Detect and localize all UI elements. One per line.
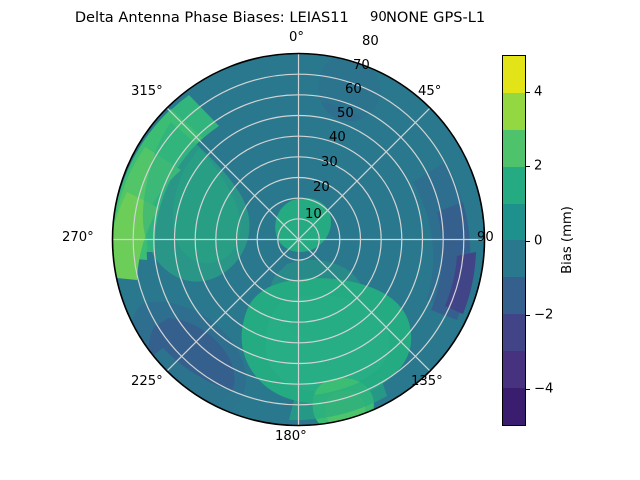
colorbar-tick-3 [526, 315, 530, 316]
angular-label-135: 135° [411, 374, 443, 389]
polar-contour-svg [111, 52, 486, 427]
angular-label-45: 45° [418, 84, 441, 99]
colorbar-ticklabel-1: 2 [534, 159, 542, 174]
colorbar-band-6 [503, 277, 525, 314]
radial-label-70: 70 [353, 58, 370, 73]
angular-label-180: 180° [275, 429, 307, 444]
colorbar-tick-4 [526, 389, 530, 390]
colorbar-ticklabel-0: 4 [534, 85, 542, 100]
colorbar-band-0 [503, 56, 525, 93]
colorbar-ticklabel-4: −4 [534, 381, 553, 396]
angular-label-90: 90 [477, 230, 494, 245]
page-title: Delta Antenna Phase Biases: LEIAS11 NONE… [0, 9, 560, 26]
colorbar-ticklabel-2: 0 [534, 233, 542, 248]
radial-label-90: 90 [370, 10, 387, 25]
radial-label-60: 60 [345, 82, 362, 97]
colorbar-band-8 [503, 351, 525, 388]
colorbar-band-3 [503, 167, 525, 204]
colorbar-gradient [502, 55, 526, 426]
colorbar-tick-0 [526, 92, 530, 93]
figure-canvas: Delta Antenna Phase Biases: LEIAS11 NONE… [0, 0, 640, 480]
colorbar-band-4 [503, 204, 525, 241]
radial-label-20: 20 [313, 180, 330, 195]
angular-label-270: 270° [62, 230, 94, 245]
angular-label-315: 315° [131, 84, 163, 99]
radial-label-50: 50 [337, 106, 354, 121]
radial-label-30: 30 [321, 155, 338, 170]
colorbar-tick-2 [526, 241, 530, 242]
radial-label-10: 10 [305, 207, 322, 222]
polar-gridlines [113, 54, 485, 426]
radial-label-80: 80 [362, 34, 379, 49]
colorbar-band-9 [503, 388, 525, 425]
polar-plot[interactable]: 0° 45° 90 135° 180° 225° 270° 315° 10 20… [111, 52, 486, 427]
angular-label-225: 225° [131, 374, 163, 389]
colorbar-band-2 [503, 130, 525, 167]
colorbar-tick-1 [526, 166, 530, 167]
colorbar-band-7 [503, 314, 525, 351]
colorbar-ticklabel-3: −2 [534, 307, 553, 322]
colorbar-band-5 [503, 240, 525, 277]
colorbar-axis-label: Bias (mm) [560, 206, 575, 274]
radial-label-40: 40 [329, 130, 346, 145]
colorbar[interactable]: 420−2−4 [502, 55, 526, 426]
colorbar-band-1 [503, 93, 525, 130]
angular-label-0: 0° [289, 30, 304, 45]
